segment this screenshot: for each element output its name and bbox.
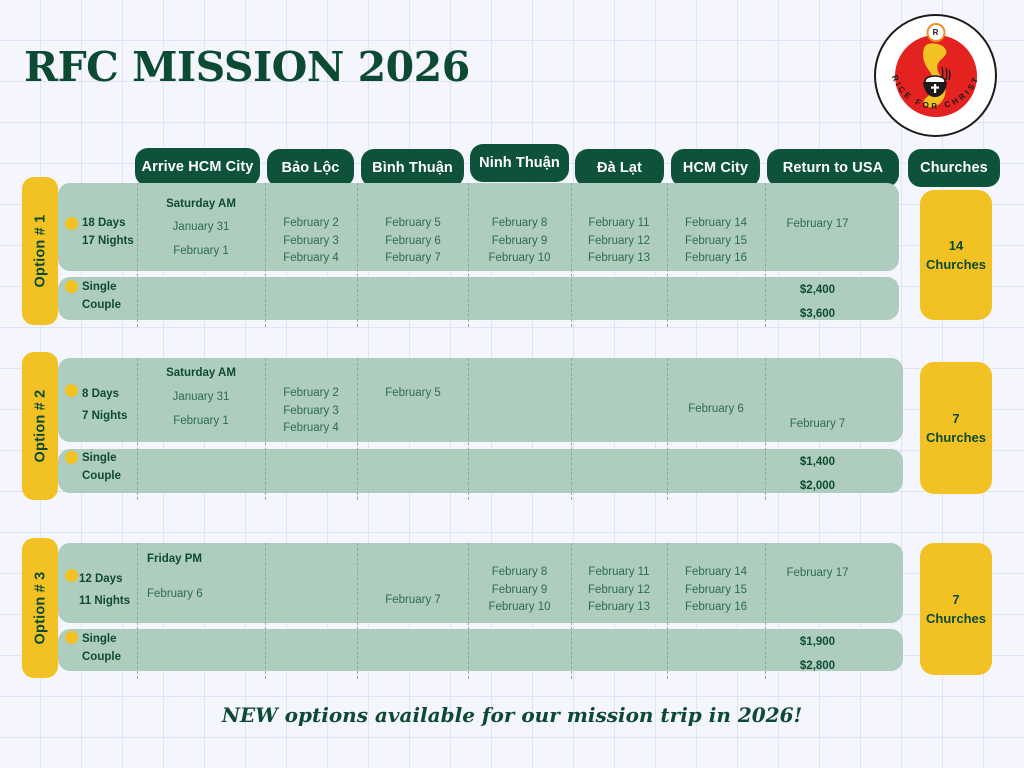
date-item: February 15 (668, 582, 764, 600)
svg-text:RICE FOR CHRIST: RICE FOR CHRIST (890, 74, 981, 111)
price-couple-value: $2,000 (767, 474, 868, 498)
column-header-da-lat[interactable]: Đà Lạt (575, 149, 664, 187)
bullet-dot (65, 569, 78, 582)
price-label-couple: Couple (82, 296, 142, 314)
option-tab-1[interactable]: Option # 1 (22, 177, 58, 325)
date-item: February 2 (266, 385, 356, 403)
column-separator (265, 543, 266, 679)
column-header-binh-thuan[interactable]: Bình Thuận (361, 149, 464, 187)
column-header-bao-loc[interactable]: Bảo Lộc (267, 149, 354, 187)
price-single-value: $1,900 (767, 630, 868, 654)
column-header-label: Bình Thuận (372, 160, 453, 176)
duration-nights: 17 Nights (82, 233, 134, 251)
option-1-price-values: $2,400 $3,600 (767, 278, 868, 326)
bullet-dot (65, 384, 78, 397)
option-tab-label: Option # 3 (32, 572, 48, 645)
option-1-da-lat-dates: February 11 February 12 February 13 (572, 215, 666, 268)
option-1-duration: 18 Days 17 Nights (82, 215, 134, 250)
date-item: February 6 (147, 586, 259, 604)
column-separator (357, 183, 358, 327)
date-item: February 15 (668, 233, 764, 251)
column-header-return-usa[interactable]: Return to USA (767, 149, 899, 187)
option-tab-2[interactable]: Option # 2 (22, 352, 58, 500)
option-tab-label: Option # 1 (32, 215, 48, 288)
column-header-arrive-hcm[interactable]: Arrive HCM City (135, 148, 260, 186)
churches-count: 14 (949, 236, 963, 255)
bullet-dot (65, 217, 78, 230)
price-couple-value: $3,600 (767, 302, 868, 326)
date-item: January 31 (145, 385, 257, 409)
duration-nights: 11 Nights (79, 590, 141, 612)
date-item: February 10 (469, 250, 570, 268)
price-label-single: Single (82, 449, 142, 467)
option-2-hcm-city-dates: February 6 (668, 401, 764, 419)
date-item: February 5 (359, 215, 467, 233)
price-label-couple: Couple (82, 648, 142, 666)
footer-note: NEW options available for our mission tr… (0, 703, 1024, 727)
option-3-churches-card: 7 Churches (920, 543, 992, 675)
churches-word: Churches (926, 428, 986, 447)
option-2-bao-loc-dates: February 2 February 3 February 4 (266, 385, 356, 438)
logo-ring-label: RICE FOR CHRIST (890, 74, 981, 111)
date-item: February 1 (145, 239, 257, 263)
option-3-arrive-hcm-dates: February 6 (147, 586, 259, 604)
option-1-binh-thuan-dates: February 5 February 6 February 7 (359, 215, 467, 268)
column-separator (357, 358, 358, 500)
date-item: February 11 (572, 564, 666, 582)
churches-count: 7 (952, 590, 959, 609)
column-separator (765, 183, 766, 327)
option-1-price-labels: Single Couple (82, 278, 142, 314)
column-header-hcm-city[interactable]: HCM City (671, 149, 760, 187)
option-3-return-usa-dates: February 17 (767, 565, 868, 583)
option-3-ninh-thuan-dates: February 8 February 9 February 10 (469, 564, 570, 617)
duration-days: 8 Days (82, 383, 140, 405)
logo-ring-text: RICE FOR CHRIST (876, 16, 995, 135)
option-3-hcm-city-dates: February 14 February 15 February 16 (668, 564, 764, 617)
price-label-couple: Couple (82, 467, 142, 485)
column-header-label: Ninh Thuận (479, 155, 560, 171)
column-header-label: HCM City (683, 160, 748, 176)
option-2-return-usa-dates: February 7 (767, 416, 868, 434)
date-item: February 16 (668, 250, 764, 268)
duration-nights: 7 Nights (82, 405, 140, 427)
date-item: February 12 (572, 582, 666, 600)
option-1-churches-card: 14 Churches (920, 190, 992, 320)
option-3-binh-thuan-dates: February 7 (359, 592, 467, 610)
column-separator (667, 358, 668, 500)
option-3-arrive-hcm-heading: Friday PM (147, 551, 259, 569)
column-header-label: Đà Lạt (597, 160, 642, 176)
date-item: February 13 (572, 250, 666, 268)
option-2-price-labels: Single Couple (82, 449, 142, 485)
option-3-duration: 12 Days 11 Nights (79, 568, 141, 612)
column-separator (468, 358, 469, 500)
date-item: February 9 (469, 233, 570, 251)
option-2-churches-card: 7 Churches (920, 362, 992, 494)
date-item: February 5 (359, 385, 467, 403)
duration-days: 12 Days (79, 568, 141, 590)
option-3-price-labels: Single Couple (82, 630, 142, 666)
churches-count: 7 (952, 409, 959, 428)
column-header-label: Churches (920, 160, 988, 176)
option-2-arrive-hcm-dates: January 31 February 1 (145, 385, 257, 433)
date-item: February 7 (767, 416, 868, 434)
column-header-ninh-thuan[interactable]: Ninh Thuận (470, 144, 569, 182)
date-item: February 2 (266, 215, 356, 233)
bullet-dot (65, 631, 78, 644)
date-item: February 16 (668, 599, 764, 617)
option-tab-label: Option # 2 (32, 390, 48, 463)
price-single-value: $2,400 (767, 278, 868, 302)
option-1-bao-loc-dates: February 2 February 3 February 4 (266, 215, 356, 268)
column-separator (571, 358, 572, 500)
poster-canvas: RFC MISSION 2026 R RICE FOR CHRIST Arriv… (0, 0, 1024, 768)
option-2-duration: 8 Days 7 Nights (82, 383, 140, 427)
option-2-arrive-hcm-heading: Saturday AM (145, 365, 257, 383)
date-item: January 31 (145, 215, 257, 239)
date-item: February 11 (572, 215, 666, 233)
option-1-arrive-hcm-heading: Saturday AM (145, 196, 257, 214)
date-item: February 3 (266, 233, 356, 251)
price-label-single: Single (82, 278, 142, 296)
date-item: February 7 (359, 250, 467, 268)
page-title: RFC MISSION 2026 (24, 43, 470, 91)
bullet-dot (65, 451, 78, 464)
option-3-price-values: $1,900 $2,800 (767, 630, 868, 678)
option-3-da-lat-dates: February 11 February 12 February 13 (572, 564, 666, 617)
price-label-single: Single (82, 630, 142, 648)
date-item: February 4 (266, 420, 356, 438)
column-header-label: Return to USA (783, 160, 883, 176)
column-header-churches[interactable]: Churches (908, 149, 1000, 187)
date-item: February 9 (469, 582, 570, 600)
duration-days: 18 Days (82, 215, 134, 233)
date-item: February 6 (359, 233, 467, 251)
date-item: February 10 (469, 599, 570, 617)
price-single-value: $1,400 (767, 450, 868, 474)
option-tab-3[interactable]: Option # 3 (22, 538, 58, 678)
column-separator (765, 358, 766, 500)
churches-word: Churches (926, 255, 986, 274)
date-item: February 17 (767, 565, 868, 583)
date-item: February 13 (572, 599, 666, 617)
date-item: February 8 (469, 564, 570, 582)
date-item: February 3 (266, 403, 356, 421)
option-1-return-usa-dates: February 17 (767, 216, 868, 234)
column-separator (765, 543, 766, 679)
rice-for-christ-logo: R RICE FOR CHRIST (874, 14, 997, 137)
option-1-hcm-city-dates: February 14 February 15 February 16 (668, 215, 764, 268)
date-item: February 4 (266, 250, 356, 268)
date-item: February 6 (668, 401, 764, 419)
date-item: February 14 (668, 564, 764, 582)
column-header-label: Bảo Lộc (282, 160, 340, 176)
date-item: February 17 (767, 216, 868, 234)
date-item: February 7 (359, 592, 467, 610)
option-2-price-values: $1,400 $2,000 (767, 450, 868, 498)
date-item: February 1 (145, 409, 257, 433)
date-item: February 12 (572, 233, 666, 251)
option-1-arrive-hcm-dates: January 31 February 1 (145, 215, 257, 263)
column-header-label: Arrive HCM City (142, 159, 254, 175)
churches-word: Churches (926, 609, 986, 628)
option-1-ninh-thuan-dates: February 8 February 9 February 10 (469, 215, 570, 268)
date-item: February 8 (469, 215, 570, 233)
option-2-binh-thuan-dates: February 5 (359, 385, 467, 403)
bullet-dot (65, 280, 78, 293)
price-couple-value: $2,800 (767, 654, 868, 678)
column-separator (357, 543, 358, 679)
date-item: February 14 (668, 215, 764, 233)
